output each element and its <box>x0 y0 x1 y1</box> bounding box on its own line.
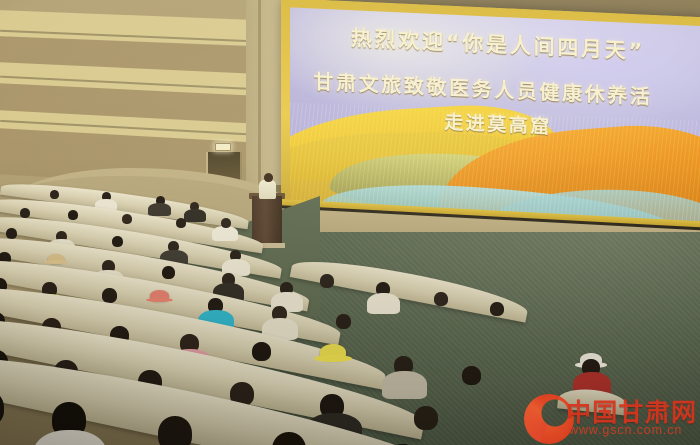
audience-head <box>252 342 271 361</box>
audience-head <box>221 218 231 228</box>
audience-head <box>434 292 448 306</box>
screen-hotspot-right <box>498 7 700 127</box>
audience-head <box>176 218 186 228</box>
audience-head <box>490 302 504 316</box>
audience-hat-yellow <box>320 344 346 360</box>
auditorium-photo: 热烈欢迎“你是人间四月天” 甘肃文旅致敬医务人员健康休养活 走进莫高窟 <box>0 0 700 445</box>
audience-torso <box>184 209 206 222</box>
audience-head <box>158 416 192 445</box>
audience-head <box>462 366 481 385</box>
audience-head <box>320 274 334 288</box>
audience-head <box>162 266 175 279</box>
audience-head <box>6 228 17 239</box>
audience-head <box>20 208 30 218</box>
audience-seating <box>0 178 700 445</box>
exit-sign-icon <box>215 143 231 151</box>
audience-torso <box>382 371 427 399</box>
audience-torso <box>367 293 400 314</box>
audience-head <box>122 214 132 224</box>
audience-head <box>68 210 78 220</box>
audience-torso <box>34 430 106 445</box>
audience-head <box>112 236 123 247</box>
audience-torso <box>148 203 171 216</box>
audience-head <box>414 406 438 430</box>
audience-head <box>336 314 351 329</box>
audience-hat-straw <box>48 254 64 263</box>
audience-head <box>102 288 117 303</box>
audience-head <box>50 190 59 199</box>
audience-torso <box>212 226 238 241</box>
seat-row <box>557 386 629 415</box>
audience-hat-pink <box>150 290 169 301</box>
